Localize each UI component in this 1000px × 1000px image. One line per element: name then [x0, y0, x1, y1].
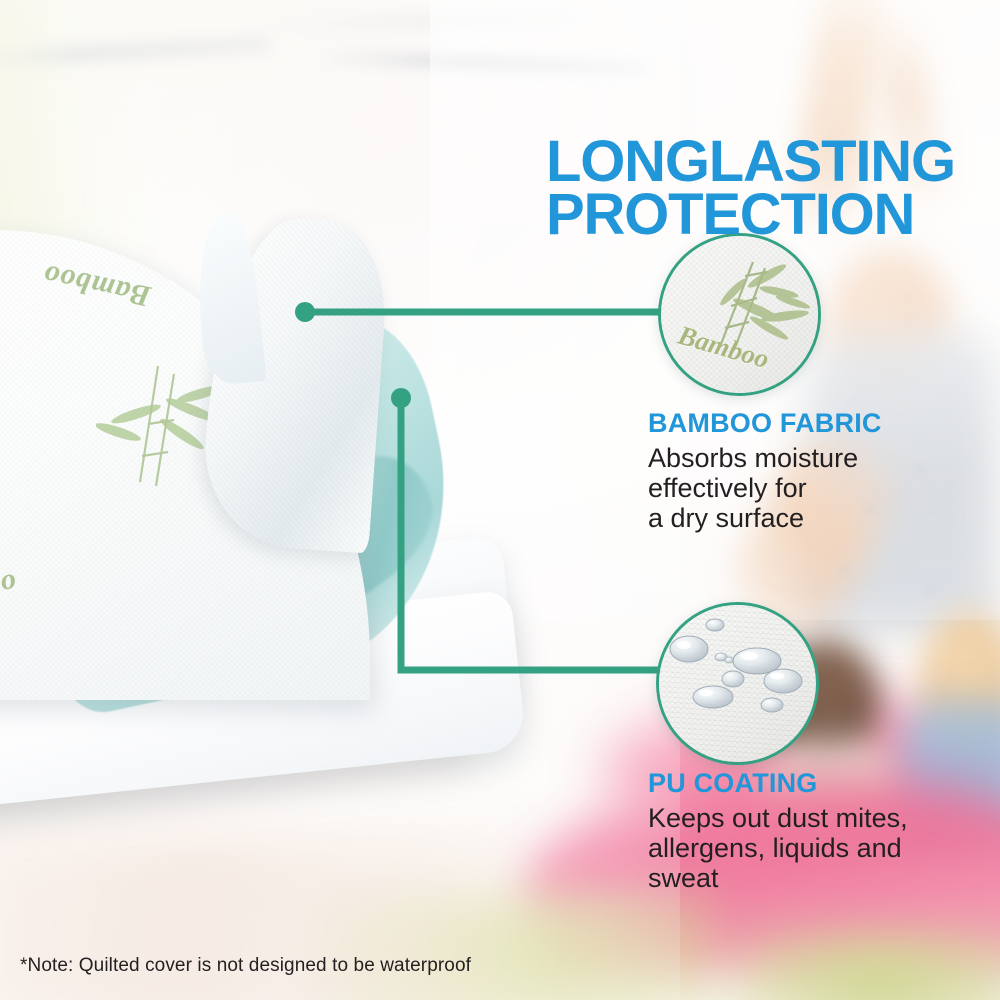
feature-title-bamboo-fabric: BAMBOO FABRIC	[648, 408, 978, 439]
feature-block-pu-coating: PU COATING Keeps out dust mites, allerge…	[648, 768, 978, 894]
callout-circle-pu-coating	[656, 602, 819, 765]
infographic-canvas: Bamboo Bamboo	[0, 0, 1000, 1000]
page-title-line2: PROTECTION	[546, 188, 986, 241]
background-green-blur-bottom-right	[730, 930, 1000, 1000]
feature-block-bamboo-fabric: BAMBOO FABRIC Absorbs moisture effective…	[648, 408, 978, 534]
feature-desc-line: effectively for	[648, 473, 978, 503]
product-print-word-bottom: Bamboo	[0, 562, 19, 613]
bamboo-swatch-plant-icon	[661, 236, 821, 396]
feature-desc-line: sweat	[648, 863, 978, 893]
footnote-disclaimer: *Note: Quilted cover is not designed to …	[20, 955, 471, 977]
feature-title-pu-coating: PU COATING	[648, 768, 978, 799]
feature-desc-line: Absorbs moisture	[648, 443, 978, 473]
product-image-mattress-protector: Bamboo Bamboo	[0, 230, 610, 930]
page-title: LONGLASTINGPROTECTION	[546, 135, 986, 242]
product-print-word-top: Bamboo	[40, 257, 154, 313]
feature-desc-line: a dry surface	[648, 503, 978, 533]
feature-description-pu-coating: Keeps out dust mites, allergens, liquids…	[648, 803, 978, 894]
callout-circle-bamboo-fabric: Bamboo	[658, 233, 821, 396]
water-droplets-icon	[659, 605, 819, 765]
feature-desc-line: allergens, liquids and	[648, 833, 978, 863]
feature-description-bamboo-fabric: Absorbs moisture effectively for a dry s…	[648, 443, 978, 534]
feature-desc-line: Keeps out dust mites,	[648, 803, 978, 833]
